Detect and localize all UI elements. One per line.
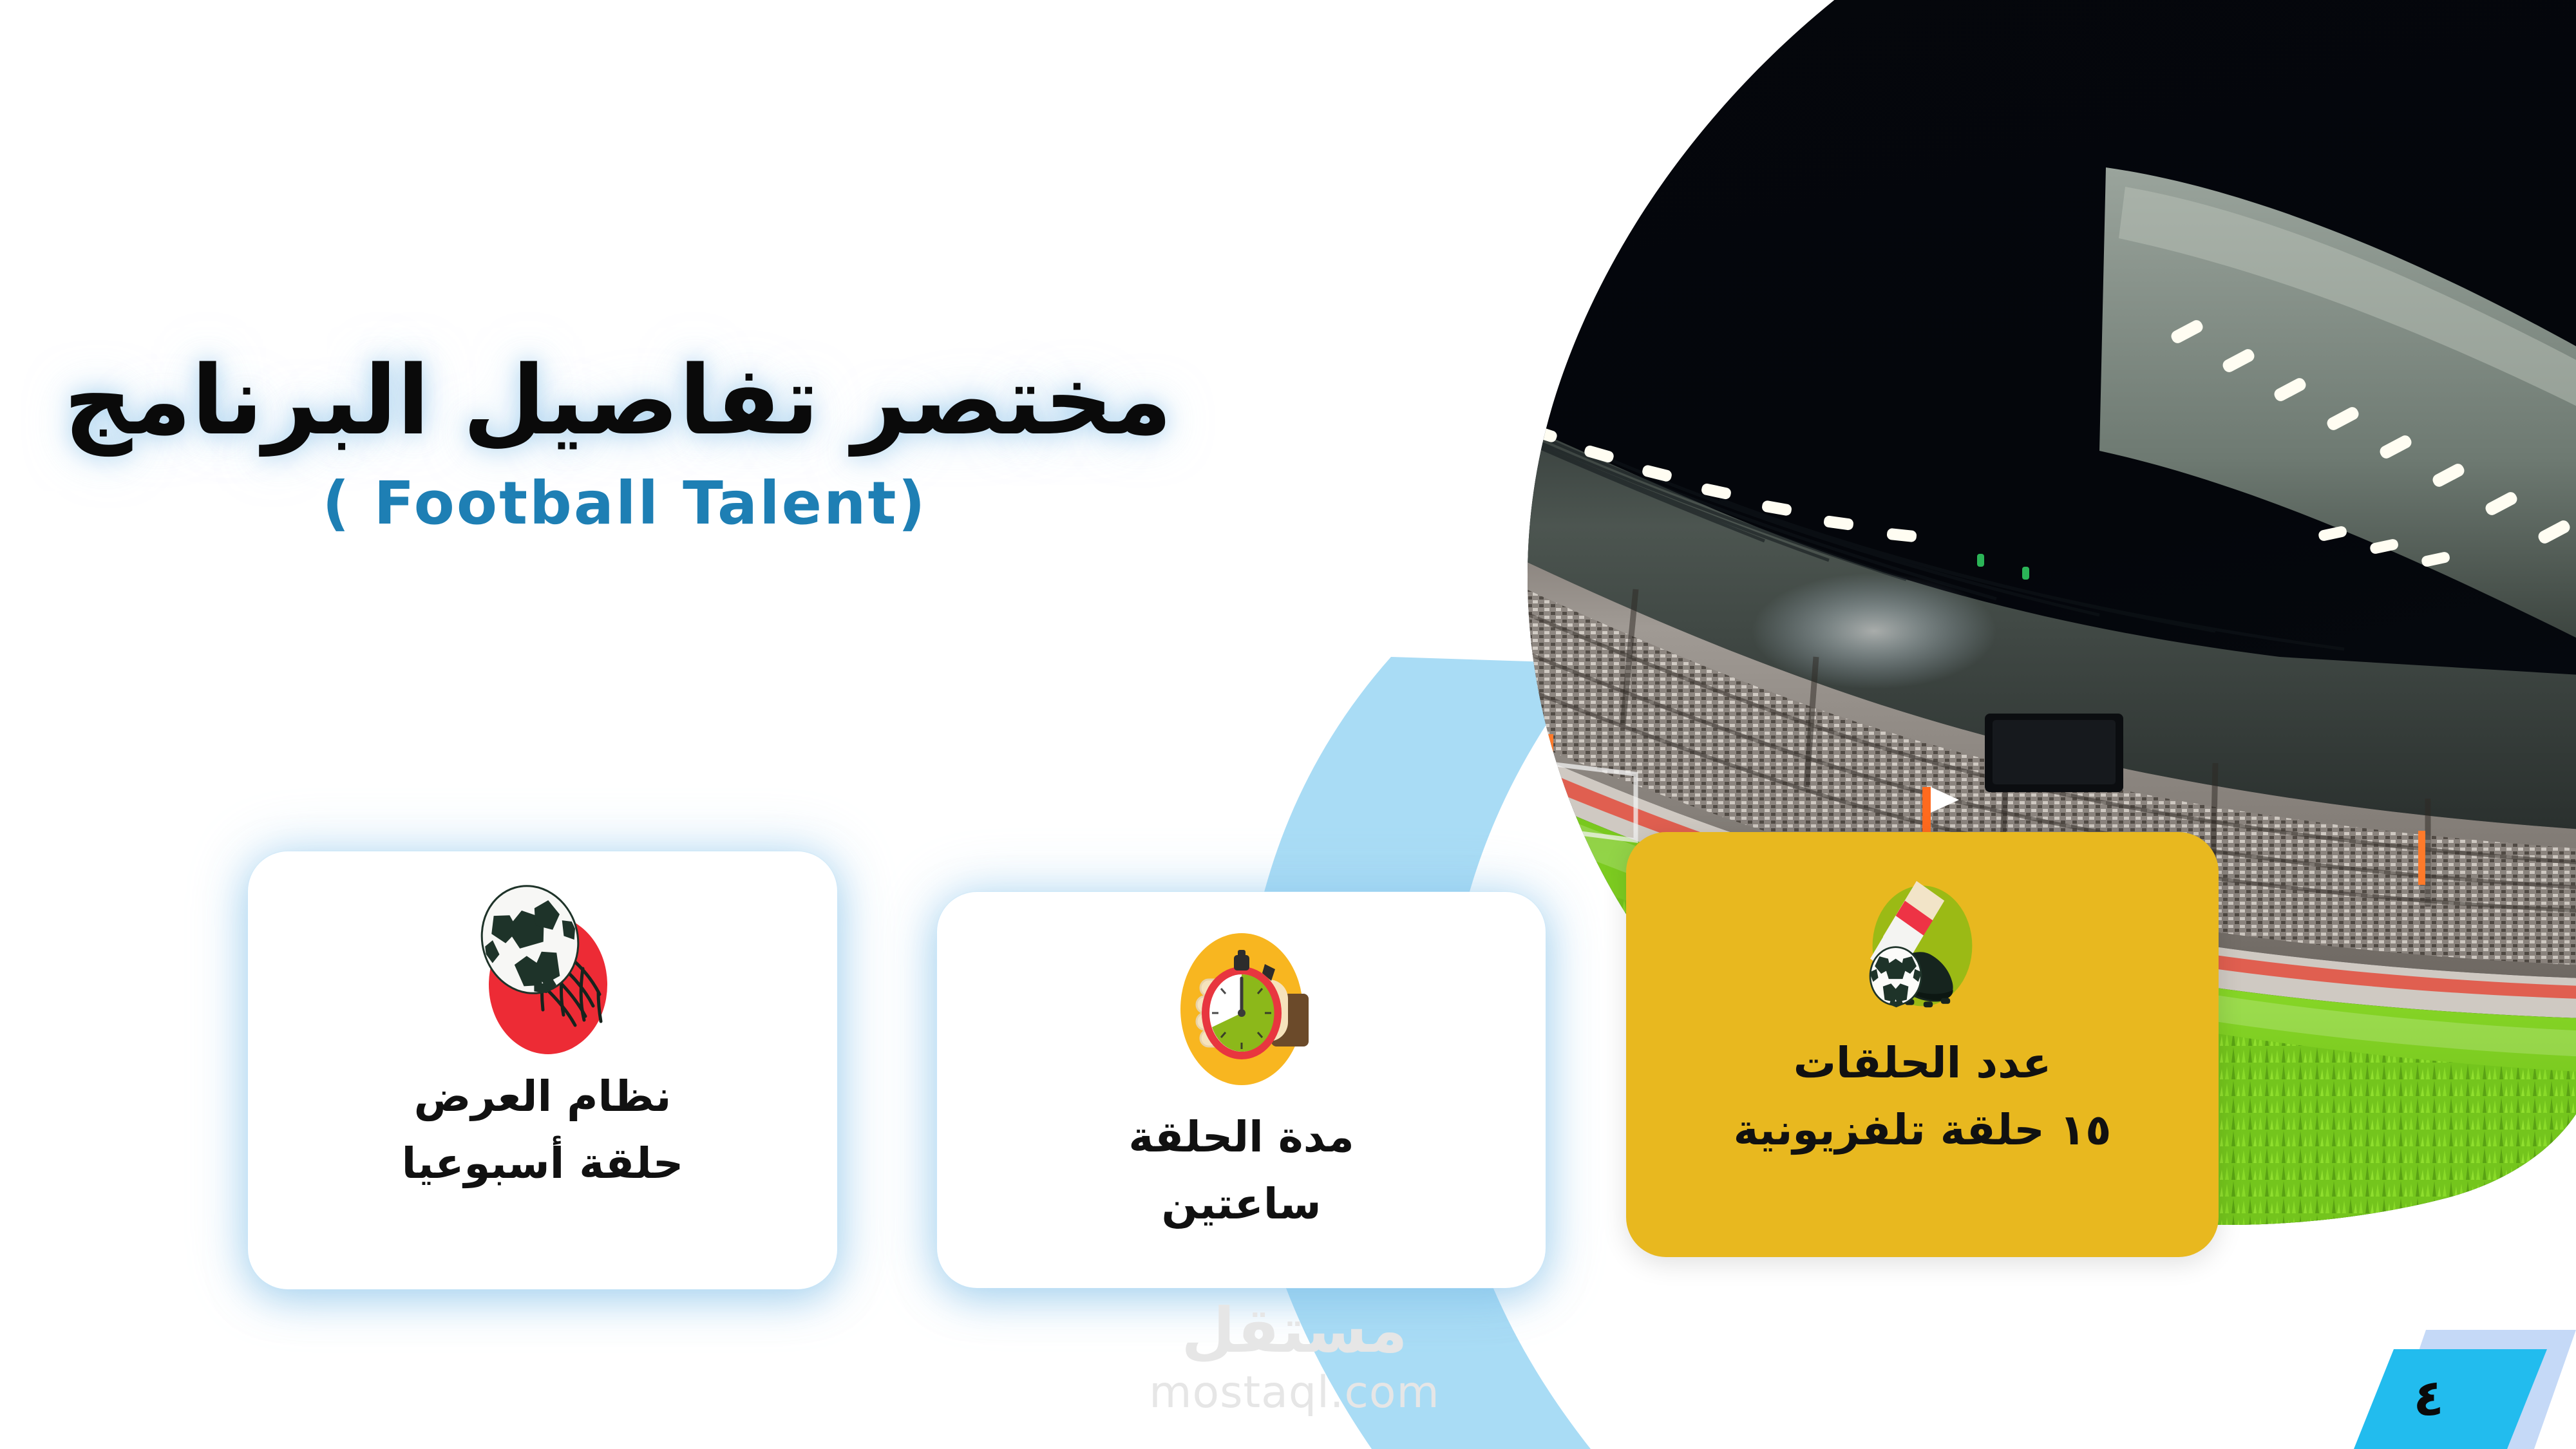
heading-block: مختصر تفاصيل البرنامج ( Football Talent) [77,348,1172,538]
page-subtitle: ( Football Talent) [77,469,1172,538]
football-boot-icon [1835,858,2009,1032]
card-title: عدد الحلقات [1794,1038,2052,1088]
page-number-badge: ٤ [2354,1330,2576,1449]
page-number-text: ٤ [2413,1369,2444,1427]
page-title: مختصر تفاصيل البرنامج [77,348,1172,455]
card-title: نظام العرض [414,1072,672,1122]
watermark-arabic: مستقل [1095,1300,1494,1361]
card-title: مدة الحلقة [1128,1112,1354,1162]
slide-root: مختصر تفاصيل البرنامج ( Football Talent) [0,0,2576,1449]
watermark-domain: mostaql.com [1095,1368,1494,1418]
card-display-system[interactable]: نظام العرض حلقة أسبوعيا [248,851,837,1289]
card-episode-count[interactable]: عدد الحلقات ١٥ حلقة تلفزيونية [1626,832,2219,1257]
card-episode-duration[interactable]: مدة الحلقة ساعتين [937,892,1546,1288]
card-subtitle: ساعتين [1161,1179,1321,1229]
watermark: مستقل mostaql.com [1095,1300,1494,1418]
soccer-ball-net-icon [446,872,639,1065]
card-subtitle: حلقة أسبوعيا [402,1139,684,1189]
stopwatch-icon [1145,913,1338,1106]
card-subtitle: ١٥ حلقة تلفزيونية [1734,1105,2112,1155]
